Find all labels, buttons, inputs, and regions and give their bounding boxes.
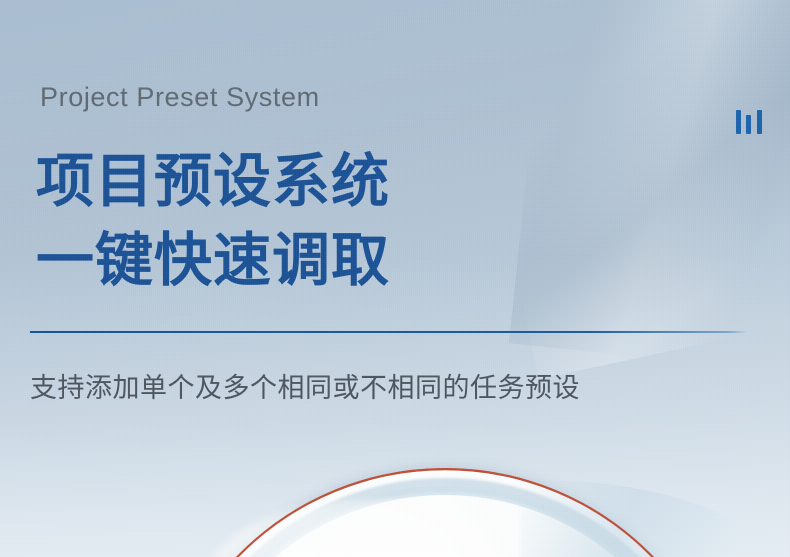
page-title: 项目预设系统 一键快速调取 xyxy=(36,142,390,300)
page-title-line-1: 项目预设系统 xyxy=(36,142,390,221)
mark-bar-right xyxy=(757,110,762,134)
subtitle-text: 支持添加单个及多个相同或不相同的任务预设 xyxy=(30,366,580,405)
promo-banner: Project Preset System 项目预设系统 一键快速调取 支持添加… xyxy=(0,0,790,557)
mark-bar-middle xyxy=(746,115,751,134)
divider xyxy=(30,331,748,333)
eyebrow-text: Project Preset System xyxy=(40,82,320,113)
banner-content: Project Preset System 项目预设系统 一键快速调取 支持添加… xyxy=(0,0,790,557)
three-bars-mark-icon xyxy=(736,110,762,134)
page-title-line-2: 一键快速调取 xyxy=(36,221,390,300)
mark-bar-left xyxy=(736,110,741,134)
